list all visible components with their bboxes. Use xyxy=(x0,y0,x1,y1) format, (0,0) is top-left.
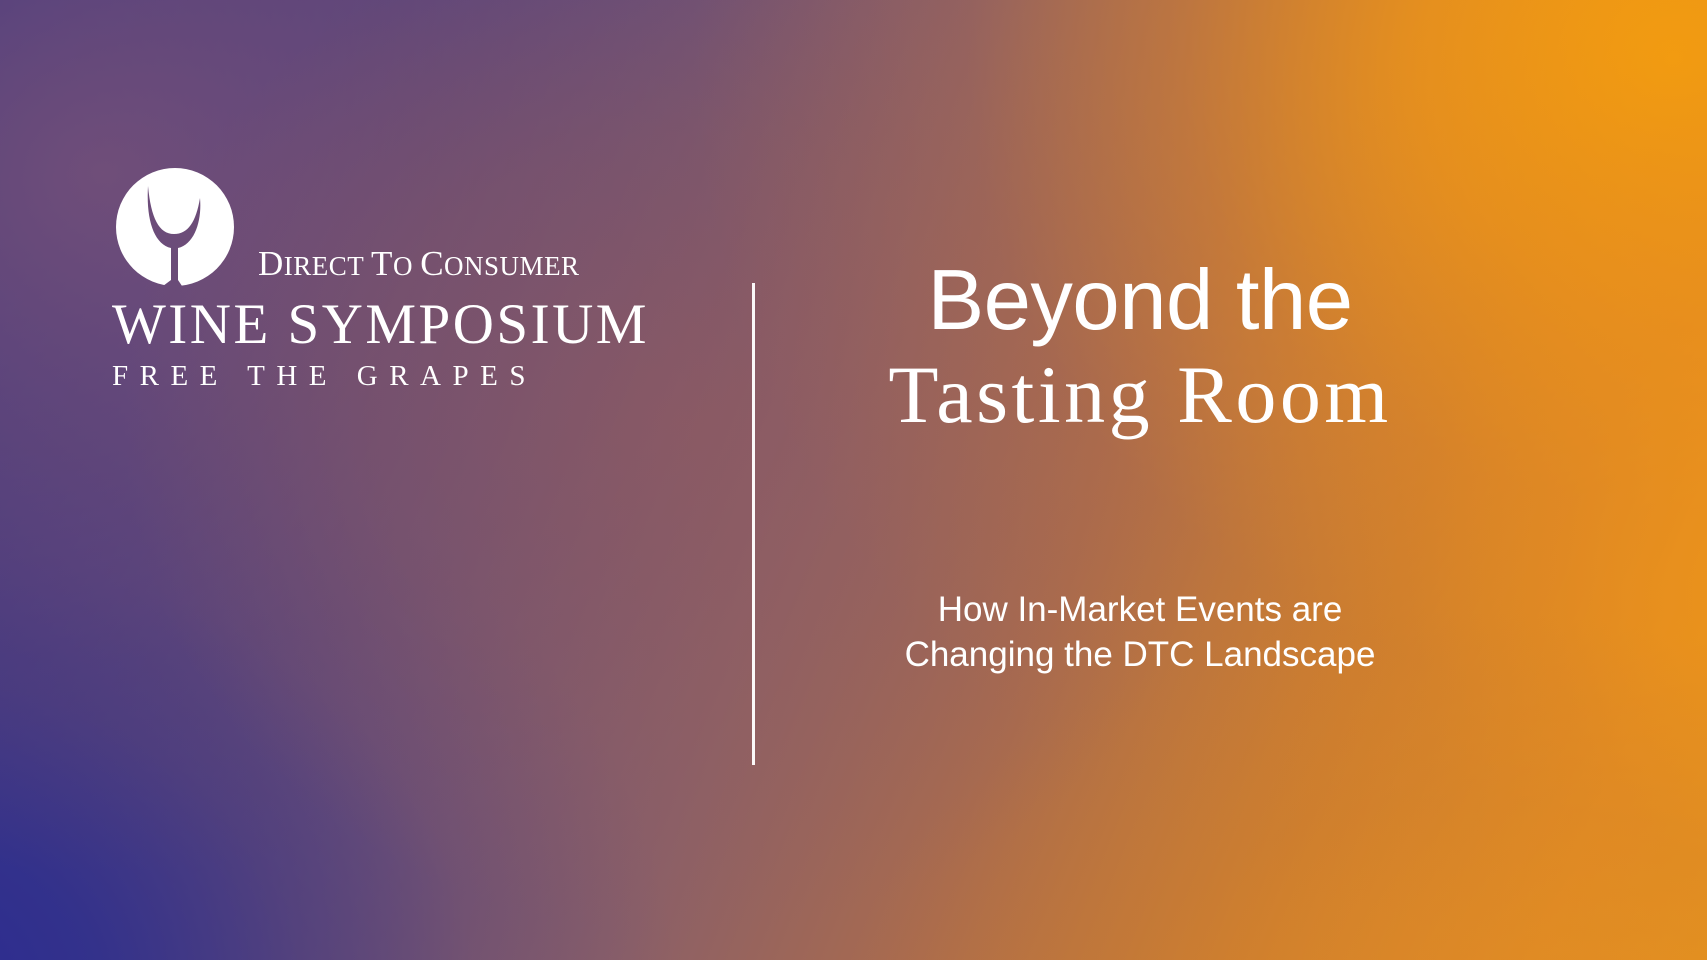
wine-glass-in-circle-icon xyxy=(116,168,234,286)
slide-subtitle: How In-Market Events are Changing the DT… xyxy=(790,588,1490,678)
title-slide: DIRECT TO CONSUMER WINE SYMPOSIUM FREE T… xyxy=(0,0,1707,960)
vertical-divider xyxy=(752,283,755,765)
brand-org-o: O xyxy=(393,251,413,281)
brand-org-t: T xyxy=(371,244,393,283)
brand-name: WINE SYMPOSIUM xyxy=(112,296,642,354)
brand-organization-line: DIRECT TO CONSUMER xyxy=(258,246,580,281)
subtitle-line-2: Changing the DTC Landscape xyxy=(790,633,1490,678)
brand-tagline: FREE THE GRAPES xyxy=(112,362,642,391)
brand-org-c: C xyxy=(420,244,444,283)
brand-org-d: D xyxy=(258,244,284,283)
brand-org-onsumer: ONSUMER xyxy=(444,251,580,281)
subtitle-line-1: How In-Market Events are xyxy=(790,588,1490,633)
slide-content: DIRECT TO CONSUMER WINE SYMPOSIUM FREE T… xyxy=(0,0,1707,960)
slide-title: Beyond the Tasting Room xyxy=(790,256,1490,442)
title-line-2: Tasting Room xyxy=(790,348,1490,441)
brand-org-irect: IRECT xyxy=(284,251,364,281)
brand-org-space1 xyxy=(364,251,371,281)
brand-top-row: DIRECT TO CONSUMER xyxy=(112,168,642,294)
title-line-1: Beyond the xyxy=(790,256,1490,346)
brand-lockup: DIRECT TO CONSUMER WINE SYMPOSIUM FREE T… xyxy=(112,168,642,391)
